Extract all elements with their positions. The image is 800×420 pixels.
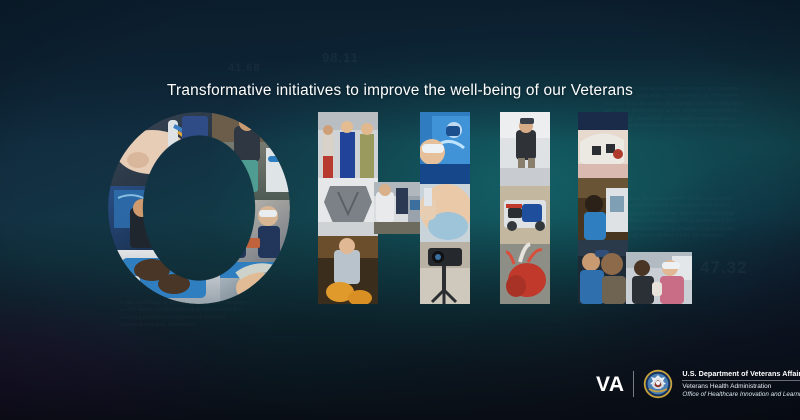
logo-divider (633, 371, 634, 397)
va-wordmark: VA (596, 374, 633, 395)
va-logo-text-block: U.S. Department of Veterans Affairs Vete… (682, 370, 800, 398)
background-vignette (0, 0, 800, 420)
banner-canvas: the solutions that emerge from the field… (0, 0, 800, 420)
va-administration-line: Veterans Health Administration (682, 383, 800, 391)
va-logo-lockup: VA U.S. Department of Veterans Affairs V… (596, 363, 800, 405)
va-seal-eagle-icon (643, 369, 673, 399)
va-logo-rule (682, 380, 800, 381)
va-office-line: Office of Healthcare Innovation and Lear… (682, 391, 800, 398)
va-department-line: U.S. Department of Veterans Affairs (682, 370, 800, 378)
